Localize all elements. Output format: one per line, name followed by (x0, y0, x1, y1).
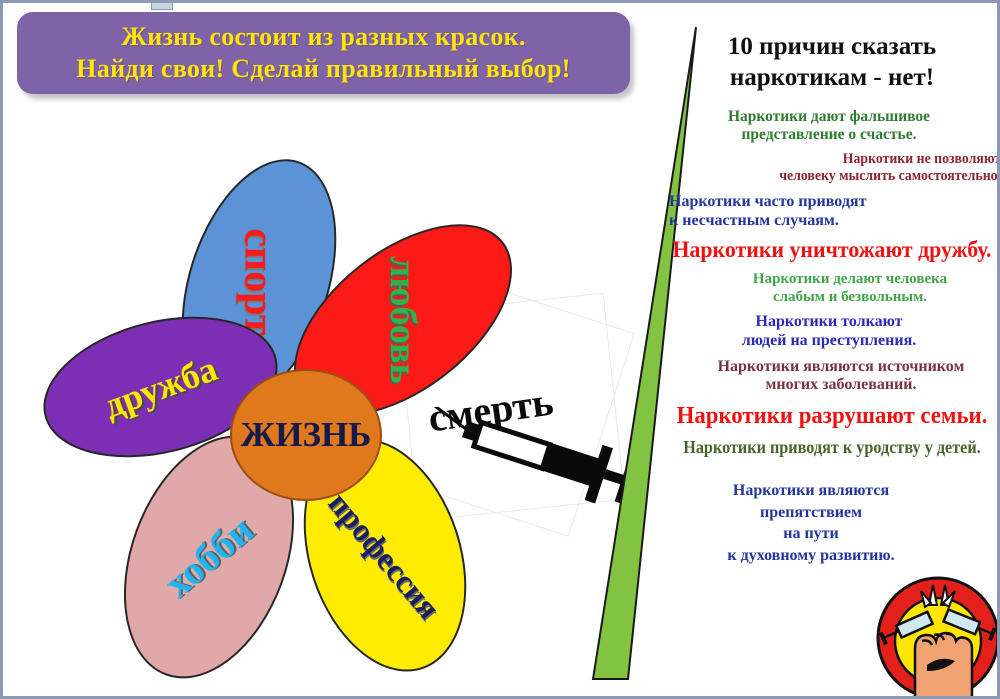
reason-item-6: Наркотики толкают людей на преступления. (657, 313, 1000, 350)
reason-line: Наркотики делают человека (699, 271, 1000, 289)
panel-title-line-1: 10 причин сказать (663, 31, 1000, 62)
reason-line: Наркотики не позволяют (690, 151, 1000, 169)
poster-slide: Жизнь состоит из разных красок. Найди св… (0, 0, 1000, 699)
life-flower-diagram: спорт любовь дружба хобби профессия ЖИЗН… (3, 3, 643, 699)
reason-line: человеку мыслить самостоятельно. (690, 168, 1000, 186)
reason-item-5: Наркотики делают человека слабым и безво… (699, 271, 1000, 306)
fist-crushing-syringes-icon (875, 575, 1000, 699)
reason-line: препятствием (621, 502, 1000, 524)
reason-line: Наркотики являются (621, 480, 1000, 502)
petal-label-friendship: дружба (99, 350, 221, 424)
reason-item-3: Наркотики часто приводят к несчастным сл… (669, 193, 1000, 230)
petal-label-hobby: хобби (157, 509, 260, 605)
panel-title: 10 причин сказать наркотикам - нет! (663, 31, 1000, 94)
reason-item-8: Наркотики разрушают семьи. (671, 402, 992, 430)
reason-line: Наркотики являются источником (681, 358, 1000, 377)
reason-item-9: Наркотики приводят к уродству у детей. (680, 437, 984, 458)
flower-center-life: ЖИЗНЬ (230, 369, 382, 501)
petal-label-love: любовь (384, 256, 422, 384)
reason-line: Наркотики дают фальшивое (657, 108, 1000, 126)
reason-line: людей на преступления. (657, 332, 1000, 351)
reason-item-1: Наркотики дают фальшивое представление о… (657, 108, 1000, 144)
reason-line: слабым и безвольным. (699, 289, 1000, 307)
flower-center-label: ЖИЗНЬ (241, 415, 372, 455)
reason-line: многих заболеваний. (681, 376, 1000, 395)
reason-item-10: Наркотики являются препятствием на пути … (621, 480, 1000, 566)
reason-line: Наркотики приводят к уродству у детей. (680, 437, 984, 458)
reason-line: Наркотики уничтожают дружбу. (671, 237, 992, 264)
reason-line: Наркотики часто приводят (669, 193, 1000, 212)
reason-line: Наркотики толкают (657, 313, 1000, 332)
reason-line: к несчастным случаям. (669, 212, 1000, 231)
reason-item-7: Наркотики являются источником многих заб… (681, 358, 1000, 395)
reason-item-4: Наркотики уничтожают дружбу. (671, 237, 992, 264)
reason-line: представление о счастье. (657, 126, 1000, 144)
reason-line: к духовному развитию. (621, 545, 1000, 567)
reason-line: на пути (621, 523, 1000, 545)
petal-label-sport: спорт (238, 228, 280, 335)
reason-item-2: Наркотики не позволяют человеку мыслить … (690, 151, 1000, 186)
reason-line: Наркотики разрушают семьи. (671, 402, 992, 430)
panel-title-line-2: наркотикам - нет! (663, 62, 1000, 93)
